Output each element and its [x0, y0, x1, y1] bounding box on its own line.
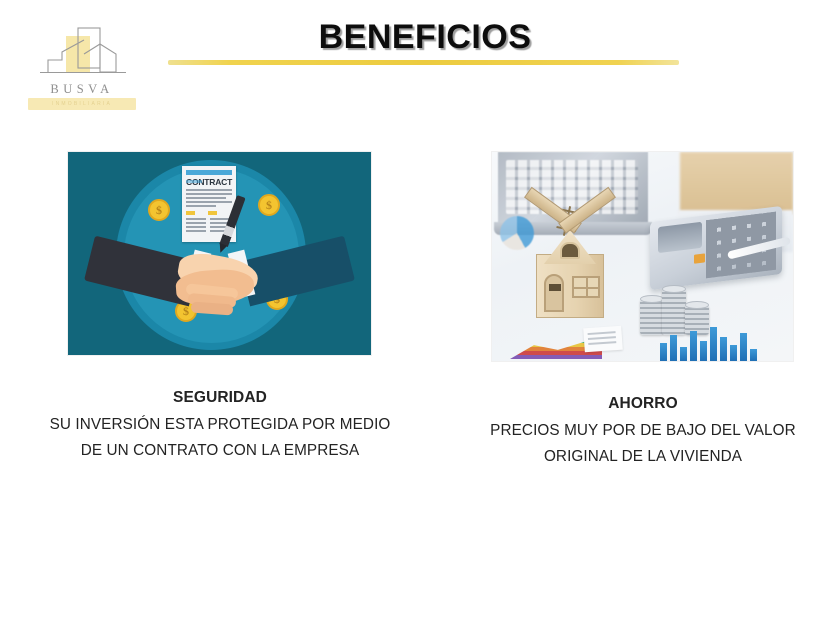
- building-outline-logo-icon: [26, 26, 138, 84]
- bar-chart-bar: [740, 333, 747, 361]
- benefit-card-seguridad: $ $ $ $ CONTRACT: [68, 152, 371, 464]
- page-title: BENEFICIOS: [170, 18, 680, 57]
- bar-chart-bar: [720, 337, 727, 361]
- calculator-screen: [658, 222, 702, 253]
- benefit-title-ahorro: AHORRO: [478, 391, 808, 417]
- brand-tagline: INMOBILIARIA: [28, 98, 136, 110]
- laptop-keyboard: [506, 160, 638, 214]
- bar-chart-bar: [730, 345, 737, 361]
- bar-chart-bar: [700, 341, 707, 361]
- benefit-description-ahorro: PRECIOS MUY POR DE BAJO DEL VALOR ORIGIN…: [490, 422, 796, 465]
- benefit-caption-seguridad: SEGURIDAD SU INVERSIÓN ESTA PROTEGIDA PO…: [46, 385, 394, 464]
- paper-note: [583, 326, 623, 353]
- benefit-card-ahorro: AHORRO PRECIOS MUY POR DE BAJO DEL VALOR…: [492, 152, 793, 470]
- brand-name: BUSVA: [26, 82, 138, 97]
- benefit-description-seguridad: SU INVERSIÓN ESTA PROTEGIDA POR MEDIO DE…: [50, 416, 391, 459]
- house-attic-window: [560, 242, 580, 259]
- desk-panel: [680, 152, 793, 214]
- coin-icon: $: [148, 199, 170, 221]
- coin-icon: $: [258, 194, 280, 216]
- financial-chart-papers: [492, 317, 793, 361]
- bar-chart-bar: [710, 327, 717, 361]
- benefit-title-seguridad: SEGURIDAD: [46, 385, 394, 411]
- brand-logo: BUSVA INMOBILIARIA: [26, 26, 138, 108]
- handshake-contract-illustration: $ $ $ $ CONTRACT: [68, 152, 371, 355]
- title-underline-rule: [168, 60, 679, 65]
- house-model-savings-photo: [492, 152, 793, 361]
- bar-chart-bar: [660, 343, 667, 361]
- wooden-house-model-icon: [522, 212, 618, 318]
- calculator-orange-key: [694, 253, 705, 263]
- bar-chart-bar: [690, 331, 697, 361]
- house-door: [544, 274, 564, 312]
- benefit-caption-ahorro: AHORRO PRECIOS MUY POR DE BAJO DEL VALOR…: [478, 391, 808, 470]
- house-window: [572, 276, 600, 298]
- bar-chart-bar: [750, 349, 757, 361]
- bar-chart-bar: [680, 347, 687, 361]
- bar-chart-bar: [670, 335, 677, 361]
